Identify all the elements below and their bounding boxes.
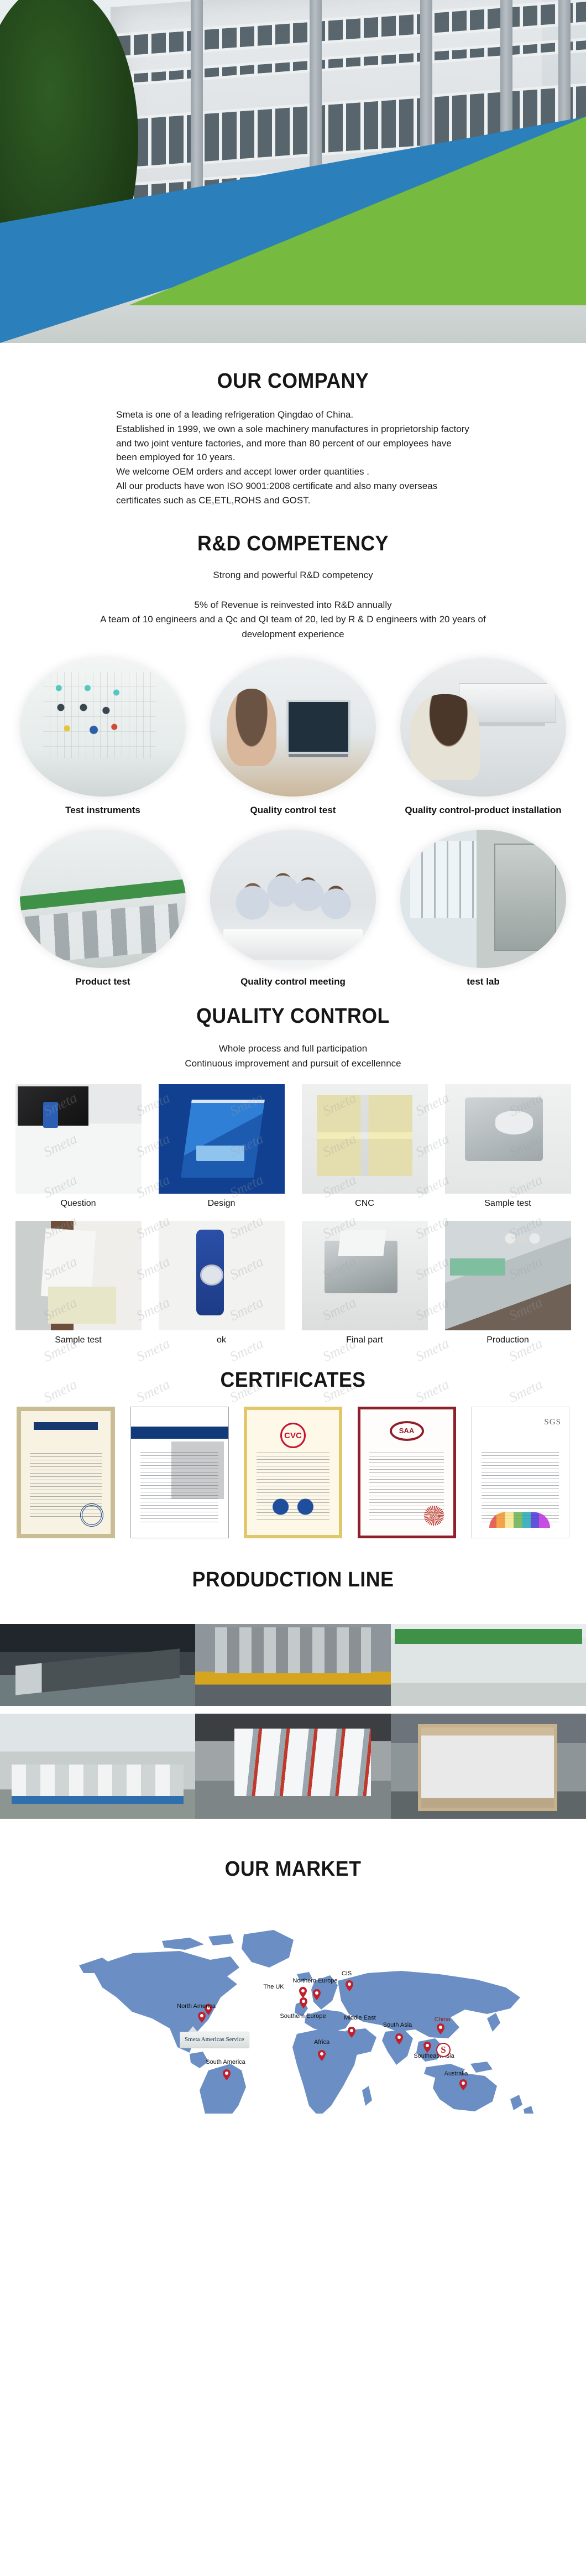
quality-control-subtitle: Whole process and full participation Con… <box>83 1042 503 1071</box>
map-label-china: China <box>435 2016 451 2023</box>
process-step-caption: Question <box>14 1198 143 1209</box>
rnd-subtitle: Strong and powerful R&D competency <box>83 568 503 582</box>
rnd-title: R&D COMPETENCY <box>18 532 568 556</box>
process-step-caption: CNC <box>300 1198 429 1209</box>
rnd-detail-line-1: 5% of Revenue is reinvested into R&D ann… <box>83 598 503 612</box>
production-photo-row <box>0 1624 586 1706</box>
process-step-caption: Production <box>443 1335 572 1345</box>
map-pin-africa[interactable] <box>318 2050 326 2061</box>
certificate-cvc: CVC <box>244 1407 342 1538</box>
quality-process-grid: Question Design CNC Sample test Sample t… <box>14 1084 572 1345</box>
certificate-sgs: SGS <box>471 1407 569 1538</box>
test-instruments-photo <box>20 658 186 797</box>
map-label-australia: Australia <box>444 2070 468 2077</box>
company-profile-page: OUR COMPANY Smeta is one of a leading re… <box>0 0 586 2114</box>
quality-control-test-photo <box>210 658 376 797</box>
smeta-brand-mark: S <box>436 2043 451 2057</box>
map-pin-cis[interactable] <box>346 1980 353 1991</box>
certificates-section: CERTIFICATES CVC SAA SGS <box>0 1368 586 1538</box>
cnc-photo <box>302 1084 428 1194</box>
company-line-1: Smeta is one of a leading refrigeration … <box>116 408 470 422</box>
final-part-photo <box>302 1221 428 1330</box>
process-step-caption: Final part <box>300 1335 429 1345</box>
rnd-detail-line-2: A team of 10 engineers and a Qc and QI t… <box>83 612 503 642</box>
our-market-title: OUR MARKET <box>18 1857 568 1881</box>
map-pin-southern-europe[interactable] <box>299 1987 307 1998</box>
saa-logo: SAA <box>390 1421 424 1441</box>
display-cooler-line-photo <box>391 1624 586 1706</box>
hero-banner <box>0 0 586 343</box>
question-photo <box>15 1084 142 1194</box>
process-step: Design <box>157 1084 286 1209</box>
quality-process-grid-wrapper: Question Design CNC Sample test Sample t… <box>14 1084 572 1345</box>
design-photo <box>159 1084 285 1194</box>
process-step: ok <box>157 1221 286 1345</box>
company-line-3: We welcome OEM orders and accept lower o… <box>116 465 470 479</box>
company-line-4: All our products have won ISO 9001:2008 … <box>116 479 470 508</box>
rnd-photo-caption: Product test <box>14 976 192 988</box>
qc-subtitle-line-2: Continuous improvement and pursuit of ex… <box>83 1057 503 1071</box>
map-label-africa: Africa <box>314 2039 329 2046</box>
sample-test-photo <box>445 1084 571 1194</box>
rnd-photo-cell: Test instruments <box>14 658 192 816</box>
map-label-southern-europe: Southern Europe <box>280 2013 326 2020</box>
rnd-photo-caption: test lab <box>394 976 572 988</box>
map-pin-the-uk[interactable] <box>300 1997 307 2008</box>
sample-test-bench-photo <box>15 1221 142 1330</box>
production-line-title: PRODUDCTION LINE <box>18 1568 568 1592</box>
production-line-section: PRODUDCTION LINE <box>0 1568 586 1819</box>
quality-control-meeting-photo <box>210 830 376 968</box>
map-pin-north-america[interactable] <box>198 2012 206 2023</box>
production-photo-rows <box>0 1624 586 1819</box>
rnd-photo-cell: test lab <box>394 830 572 988</box>
certificates-row: CVC SAA SGS <box>17 1407 569 1538</box>
rnd-competency-section: R&D COMPETENCY Strong and powerful R&D c… <box>0 532 586 988</box>
process-step: Final part <box>300 1221 429 1345</box>
our-company-title: OUR COMPANY <box>18 370 568 393</box>
rnd-photo-cell: Quality control test <box>204 658 382 816</box>
rnd-photo-caption: Test instruments <box>14 804 192 816</box>
map-pin-northern-europe[interactable] <box>313 1989 321 2000</box>
certificate-iec-cb <box>130 1407 229 1538</box>
map-label-northern-europe: Northern Europe <box>292 1977 337 1984</box>
rnd-photo-cell: Quality control-product installation <box>394 658 572 816</box>
map-label-south-asia: South Asia <box>383 2022 412 2028</box>
process-step-caption: Sample test <box>14 1335 143 1345</box>
map-label-south-america: South America <box>206 2059 245 2065</box>
rnd-photo-cell: Product test <box>14 830 192 988</box>
process-step-caption: Design <box>157 1198 286 1209</box>
map-label-north-america: North America <box>177 2003 216 2010</box>
process-step: Question <box>14 1084 143 1209</box>
callout-text: Smeta Americas Service <box>185 2036 244 2043</box>
sgs-logo: SGS <box>544 1418 561 1427</box>
map-pin-australia[interactable] <box>459 2079 467 2090</box>
rnd-photo-caption: Quality control test <box>204 804 382 816</box>
wooden-crate-packing-photo <box>391 1714 586 1819</box>
map-pin-south-asia[interactable] <box>395 2033 403 2044</box>
company-line-2: Established in 1999, we own a sole machi… <box>116 422 470 465</box>
process-step: Sample test <box>443 1084 572 1209</box>
quality-control-installation-photo <box>400 658 566 797</box>
process-step: Production <box>443 1221 572 1345</box>
quality-control-section: QUALITY CONTROL Whole process and full p… <box>0 1005 586 1345</box>
certificates-title: CERTIFICATES <box>18 1368 568 1392</box>
process-step: Sample test <box>14 1221 143 1345</box>
certificate-saa: SAA <box>358 1407 456 1538</box>
blue-carousel-line-photo <box>0 1714 195 1819</box>
production-photo-row <box>0 1714 586 1819</box>
rnd-photo-caption: Quality control-product installation <box>394 804 572 816</box>
world-market-map: North AmericaThe UKNorthern EuropeCISSou… <box>14 1914 572 2114</box>
force-gauge-photo <box>159 1221 285 1330</box>
map-label-middle-east: Middle East <box>344 2015 375 2021</box>
smeta-americas-callout: Smeta Americas Service <box>180 2032 249 2048</box>
map-pin-southeast-asia[interactable] <box>423 2042 431 2053</box>
our-market-section: OUR MARKET <box>0 1857 586 2114</box>
quality-control-title: QUALITY CONTROL <box>18 1005 568 1028</box>
process-step: CNC <box>300 1084 429 1209</box>
our-company-copy: Smeta is one of a leading refrigeration … <box>116 408 470 508</box>
map-label-cis: CIS <box>342 1970 352 1977</box>
process-step-caption: Sample test <box>443 1198 572 1209</box>
finished-showcase-coolers-photo <box>195 1714 390 1819</box>
test-lab-photo <box>400 830 566 968</box>
map-pin-china[interactable] <box>437 2023 444 2034</box>
product-test-photo <box>20 830 186 968</box>
map-pin-south-america[interactable] <box>223 2069 231 2080</box>
carousel-foaming-machine-photo <box>195 1624 390 1706</box>
map-label-the-uk: The UK <box>263 1984 284 1990</box>
rnd-photo-grid: Test instruments Quality control test Qu… <box>14 658 572 988</box>
qc-subtitle-line-1: Whole process and full participation <box>83 1042 503 1056</box>
brand-mark-letter: S <box>441 2044 446 2055</box>
conveyor-assembly-line-photo <box>0 1624 195 1706</box>
production-photo <box>445 1221 571 1330</box>
rnd-photo-caption: Quality control meeting <box>204 976 382 988</box>
cvc-logo: CVC <box>280 1423 306 1448</box>
rnd-photo-cell: Quality control meeting <box>204 830 382 988</box>
our-company-section: OUR COMPANY Smeta is one of a leading re… <box>0 370 586 508</box>
map-pin-middle-east[interactable] <box>348 2027 355 2038</box>
process-step-caption: ok <box>157 1335 286 1345</box>
rnd-detail: 5% of Revenue is reinvested into R&D ann… <box>83 598 503 642</box>
certificate-etl <box>17 1407 115 1538</box>
